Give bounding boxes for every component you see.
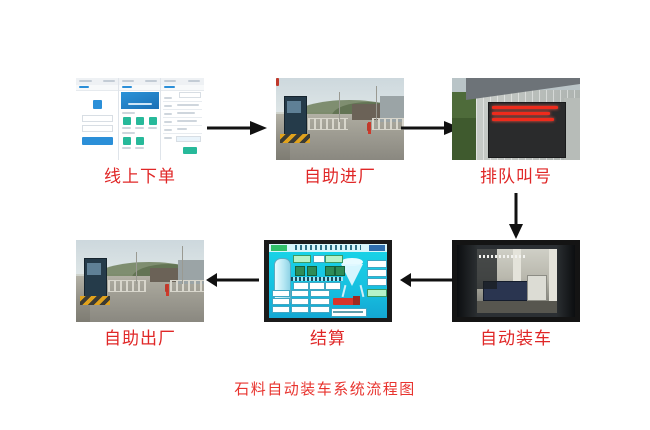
flow-node-queue-call[interactable]: 排队叫号 xyxy=(452,78,580,186)
arrow-right-icon-1 xyxy=(206,118,268,138)
thumbnail-factory-exit-gate-photo xyxy=(76,240,204,322)
thumbnail-scada-hmi-settlement-screen xyxy=(264,240,392,322)
flow-node-caption: 自助进厂 xyxy=(276,169,404,186)
flow-node-self-exit[interactable]: 自助出厂 xyxy=(76,240,204,348)
flowchart-canvas: 线上下单 xyxy=(0,0,650,430)
thumbnail-led-queue-display-board-photo xyxy=(452,78,580,160)
figure-title: 石料自动装车系统流程图 xyxy=(0,378,650,399)
flow-node-caption: 结算 xyxy=(264,331,392,348)
flow-node-caption: 线上下单 xyxy=(76,169,204,186)
thumbnail-mobile-app-ordering-screens xyxy=(76,78,204,160)
flow-node-caption: 自动装车 xyxy=(452,331,580,348)
flow-node-online-order[interactable]: 线上下单 xyxy=(76,78,204,186)
flow-node-self-entry[interactable]: 自助进厂 xyxy=(276,78,404,186)
arrow-down-icon-3 xyxy=(506,192,526,240)
flow-node-caption: 排队叫号 xyxy=(452,169,580,186)
arrow-left-icon-4 xyxy=(400,270,454,290)
arrow-left-icon-5 xyxy=(206,270,260,290)
flow-node-auto-loading[interactable]: 自动装车 xyxy=(452,240,580,348)
flow-node-caption: 自助出厂 xyxy=(76,331,204,348)
thumbnail-cctv-loading-bay-monitor xyxy=(452,240,580,322)
thumbnail-factory-entrance-gate-photo xyxy=(276,78,404,160)
flow-node-settlement[interactable]: 结算 xyxy=(264,240,392,348)
